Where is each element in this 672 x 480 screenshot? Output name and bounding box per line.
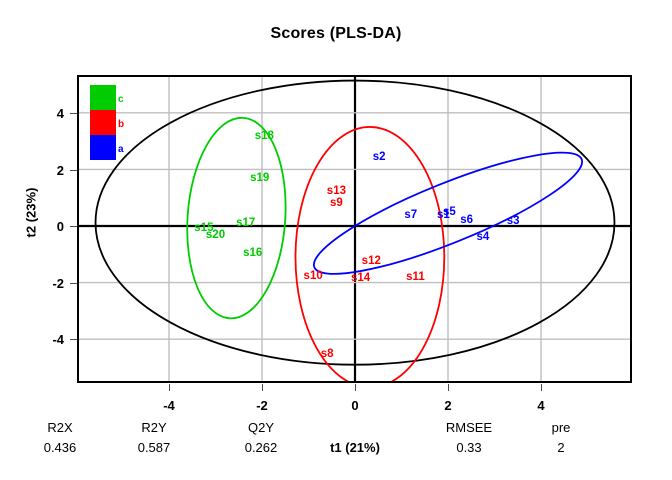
x-tick-label-0: 0	[335, 398, 375, 413]
point-label-s14: s14	[351, 272, 370, 284]
legend-item-c[interactable]: c	[90, 85, 138, 110]
legend-item-b[interactable]: b	[90, 110, 138, 135]
point-label-s17: s17	[236, 217, 255, 229]
legend-swatch-c	[90, 85, 116, 110]
y-tickmark-m4	[70, 339, 77, 340]
legend-item-a[interactable]: a	[90, 135, 138, 160]
x-tickmark-m2	[262, 384, 263, 391]
legend-label-b: b	[118, 120, 124, 130]
point-label-s6: s6	[460, 214, 473, 226]
plot-graphics	[79, 77, 630, 381]
point-label-s2: s2	[373, 151, 386, 163]
y-tick-label-m4: -4	[38, 332, 64, 347]
stat-name-r2x: R2X	[12, 420, 108, 435]
y-tickmark-m2	[70, 283, 77, 284]
x-tickmark-2	[448, 384, 449, 391]
y-tickmark-0	[70, 226, 77, 227]
y-tickmark-4	[70, 113, 77, 114]
x-tick-label-4: 4	[521, 398, 561, 413]
point-label-s3: s3	[507, 215, 520, 227]
legend-swatch-a	[90, 135, 116, 160]
x-tick-label-2: 2	[428, 398, 468, 413]
x-tickmark-m4	[169, 384, 170, 391]
x-tickmark-4	[541, 384, 542, 391]
stat-value-pre: 2	[513, 440, 609, 455]
x-axis-title: t1 (21%)	[307, 440, 403, 455]
page-title: Scores (PLS-DA)	[0, 25, 672, 43]
stat-name-rmsee: RMSEE	[421, 420, 517, 435]
stat-name-q2y: Q2Y	[213, 420, 309, 435]
point-label-s16: s16	[243, 247, 262, 259]
point-label-s12: s12	[362, 255, 381, 267]
point-label-s20: s20	[206, 229, 225, 241]
point-label-s19: s19	[250, 172, 269, 184]
stat-name-r2y: R2Y	[106, 420, 202, 435]
point-label-s4: s4	[476, 231, 489, 243]
stat-value-r2x: 0.436	[12, 440, 108, 455]
x-tick-label-m2: -2	[242, 398, 282, 413]
legend-label-c: c	[118, 95, 124, 105]
legend-label-a: a	[118, 145, 124, 155]
point-label-s11: s11	[406, 271, 425, 283]
point-label-s5: s5	[443, 206, 456, 218]
stat-value-rmsee: 0.33	[421, 440, 517, 455]
stat-value-r2y: 0.587	[106, 440, 202, 455]
plsda-scores-plot: Scores (PLS-DA) t2 (23%) 4 2 0 -2 -4 -4 …	[0, 0, 672, 480]
y-tick-label-2: 2	[38, 163, 64, 178]
y-tick-label-0: 0	[38, 219, 64, 234]
y-tick-label-m2: -2	[38, 276, 64, 291]
y-tick-label-4: 4	[38, 106, 64, 121]
x-tickmark-0	[355, 384, 356, 391]
point-label-s18: s18	[255, 130, 274, 142]
point-label-s9: s9	[330, 197, 343, 209]
stat-name-pre: pre	[513, 420, 609, 435]
stat-value-q2y: 0.262	[213, 440, 309, 455]
point-label-s13: s13	[327, 185, 346, 197]
legend: c b a	[90, 85, 138, 160]
model-stats: R2X 0.436 R2Y 0.587 Q2Y 0.262 t1 (21%) R…	[0, 420, 672, 470]
point-label-s8: s8	[321, 348, 334, 360]
point-label-s10: s10	[304, 270, 323, 282]
legend-swatch-b	[90, 110, 116, 135]
y-axis-title: t2 (23%)	[24, 168, 39, 258]
y-tickmark-2	[70, 170, 77, 171]
plot-canvas: c b a s1s2s3s4s5s6s7s8s9s10s11s12s13s14s…	[77, 75, 632, 383]
point-label-s7: s7	[404, 209, 417, 221]
x-tick-label-m4: -4	[149, 398, 189, 413]
